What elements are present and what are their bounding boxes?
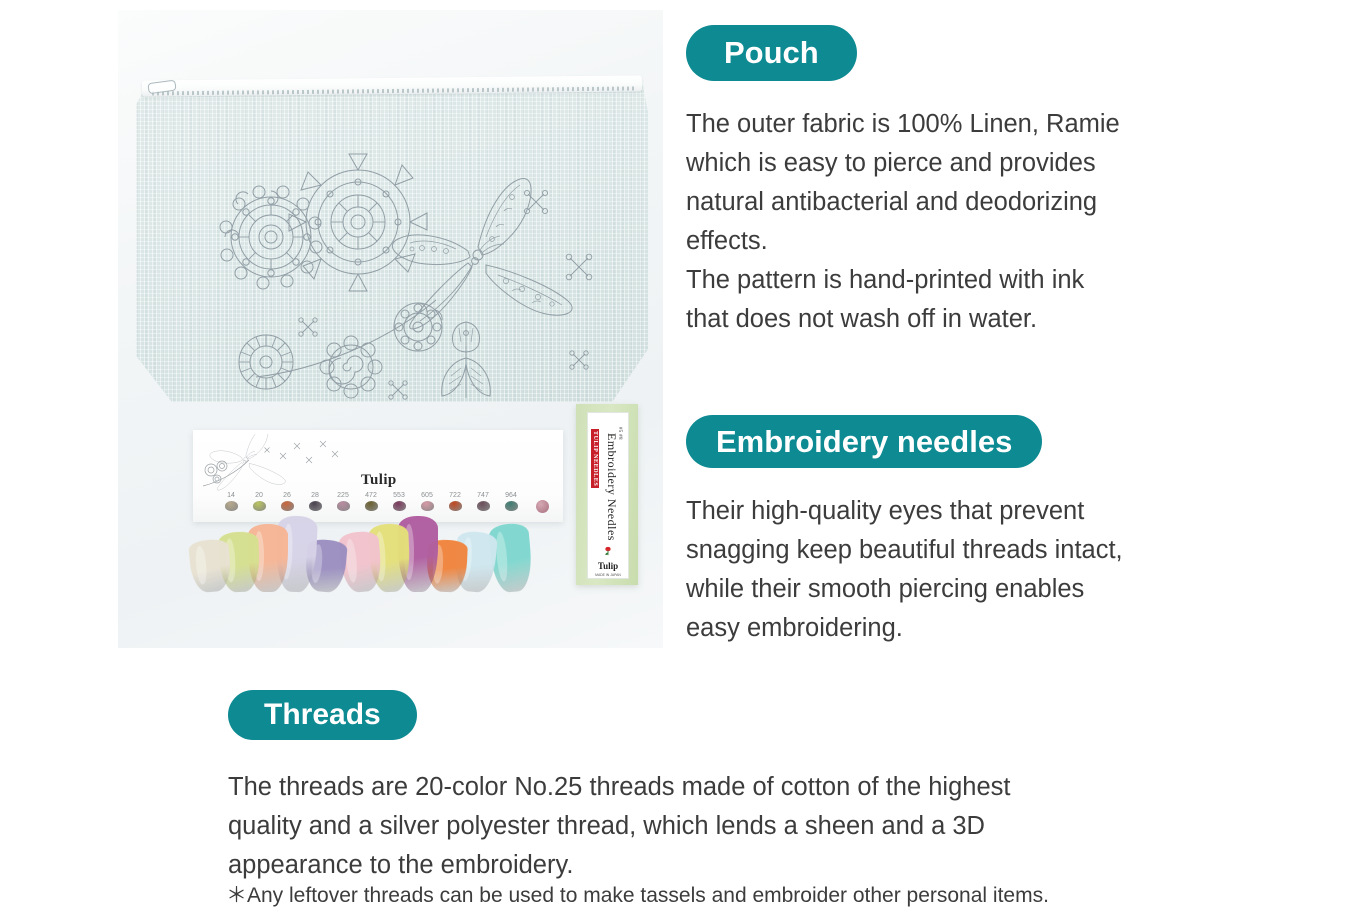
- needle-pack-brand: Tulip: [588, 561, 628, 571]
- thread-color-number: 722: [441, 492, 469, 500]
- thread-swatch: 14: [217, 492, 245, 511]
- needle-package-title: Embroidery Needles: [604, 433, 619, 541]
- thread-swatch: 747: [469, 492, 497, 511]
- thread-color-number: 28: [301, 492, 329, 500]
- thread-color-number: 553: [385, 492, 413, 500]
- extra-thread-swatch: [536, 500, 549, 513]
- thread-knot: [253, 501, 266, 511]
- thread-knot: [477, 501, 490, 511]
- thread-color-number: 26: [273, 492, 301, 500]
- thread-swatch: 472: [357, 492, 385, 511]
- product-photo: Tulip 14202628225472553605722747964 Embr…: [118, 10, 663, 648]
- thread-color-number: 472: [357, 492, 385, 500]
- thread-color-number: 20: [245, 492, 273, 500]
- thread-knot: [309, 501, 322, 511]
- thread-knot: [281, 501, 294, 511]
- thread-color-number: 14: [217, 492, 245, 500]
- thread-swatch: 553: [385, 492, 413, 511]
- thread-color-number: 964: [497, 492, 525, 500]
- section-body-pouch: The outer fabric is 100% Linen, Ramie wh…: [686, 105, 1266, 339]
- section-note-threads: ＊Any leftover threads can be used to mak…: [226, 882, 1256, 910]
- thread-knot: [449, 501, 462, 511]
- thread-swatch: 964: [497, 492, 525, 511]
- tulip-flower-icon: [603, 546, 614, 557]
- thread-swatch: 26: [273, 492, 301, 511]
- thread-knot: [421, 501, 434, 511]
- thread-swatch: 20: [245, 492, 273, 511]
- thread-knot: [337, 501, 350, 511]
- pouch-embroidery-pattern: [136, 72, 648, 402]
- card-dragonfly-motif: [197, 434, 357, 492]
- needle-brand-side-text: TULIP NEEDLES: [591, 429, 599, 488]
- tulip-brand-logo: Tulip: [361, 472, 397, 489]
- linen-pouch: [136, 72, 648, 402]
- thread-swatch: 605: [413, 492, 441, 511]
- thread-knot: [225, 501, 238, 511]
- thread-swatch: 225: [329, 492, 357, 511]
- needle-pack-origin: MADE IN JAPAN: [588, 573, 628, 577]
- thread-swatch: 722: [441, 492, 469, 511]
- section-badge-threads: Threads: [228, 690, 417, 740]
- thread-color-number: 225: [329, 492, 357, 500]
- section-badge-embroidery-needles: Embroidery needles: [686, 415, 1042, 468]
- thread-bundles: [178, 510, 573, 592]
- thread-knot: [393, 501, 406, 511]
- needle-package-label: Embroidery Needles #5 #8 TULIP NEEDLES T…: [587, 412, 629, 579]
- section-badge-pouch: Pouch: [686, 25, 857, 81]
- needle-package: Embroidery Needles #5 #8 TULIP NEEDLES T…: [576, 404, 638, 585]
- thread-knot: [365, 501, 378, 511]
- thread-color-number: 605: [413, 492, 441, 500]
- thread-color-number: 747: [469, 492, 497, 500]
- thread-knot: [505, 501, 518, 511]
- thread-swatch-row: 14202628225472553605722747964: [217, 492, 547, 518]
- thread-color-card: Tulip 14202628225472553605722747964: [193, 430, 563, 522]
- thread-swatch: 28: [301, 492, 329, 511]
- section-body-embroidery-needles: Their high-quality eyes that prevent sna…: [686, 492, 1266, 648]
- section-body-threads: The threads are 20-color No.25 threads m…: [228, 768, 1238, 885]
- needle-size-text: #5 #8: [617, 427, 622, 440]
